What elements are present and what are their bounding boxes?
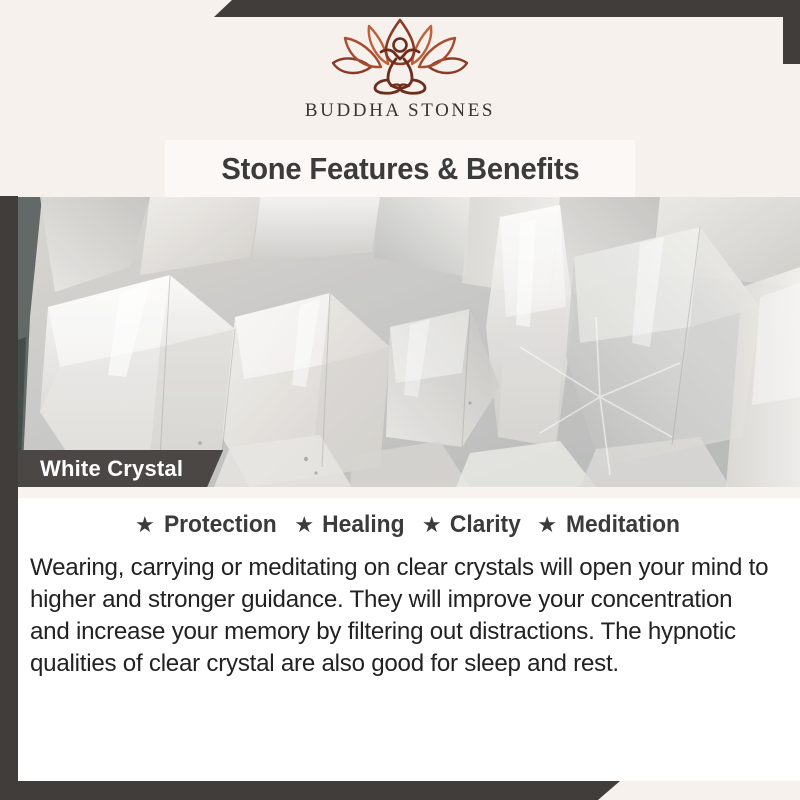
frame-corner-bottom-left (0, 781, 620, 800)
star-icon: ★ (537, 514, 557, 536)
benefit-item-meditation: ★ Meditation (537, 511, 683, 539)
star-icon: ★ (294, 514, 314, 536)
title-band: Stone Features & Benefits (165, 140, 635, 197)
panel-seam (18, 487, 800, 498)
benefit-label: Healing (322, 511, 404, 539)
benefit-item-healing: ★ Healing (294, 511, 406, 539)
benefit-item-protection: ★ Protection (135, 511, 279, 539)
frame-corner-top-right (214, 0, 800, 17)
benefit-label: Clarity (449, 511, 520, 539)
benefit-label: Meditation (566, 511, 680, 539)
brand-name: BUDDHA STONES (305, 100, 495, 122)
poster-header: BUDDHA STONES (0, 0, 800, 140)
benefit-item-clarity: ★ Clarity (422, 511, 522, 539)
stone-name-badge: White Crystal (0, 450, 223, 487)
frame-edge-left (0, 196, 18, 786)
lotus-meditation-figure-icon (325, 18, 475, 96)
stone-name-label: White Crystal (40, 456, 183, 482)
content-panel: ★ Protection ★ Healing ★ Clarity ★ Medit… (18, 487, 800, 781)
description-text: Wearing, carrying or meditating on clear… (30, 552, 777, 679)
benefits-row: ★ Protection ★ Healing ★ Clarity ★ Medit… (18, 511, 800, 539)
stone-features-poster: BUDDHA STONES Stone Features & Benefits (0, 0, 800, 800)
frame-edge-right (783, 0, 800, 64)
benefit-label: Protection (164, 511, 277, 539)
page-title: Stone Features & Benefits (221, 151, 579, 187)
star-icon: ★ (135, 514, 155, 536)
white-crystal-cluster-photo (0, 197, 800, 487)
star-icon: ★ (422, 514, 442, 536)
